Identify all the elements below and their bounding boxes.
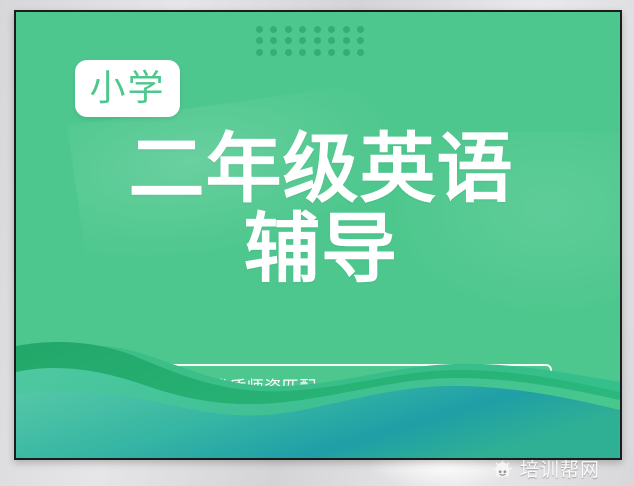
dot: [270, 37, 277, 44]
poster-title-line-2: 辅导: [16, 210, 620, 288]
dot: [343, 37, 350, 44]
feature-label: 教研专注中高考: [372, 380, 495, 397]
grade-level-badge: 小学: [75, 60, 180, 117]
features-bar: 本地优质师资匹配 教研专注中高考: [90, 364, 552, 412]
feature-item: 教研专注中高考: [343, 378, 495, 399]
dot: [314, 26, 321, 33]
dot: [270, 49, 277, 56]
feature-item: 本地优质师资匹配: [148, 378, 317, 399]
dot: [314, 37, 321, 44]
dot: [328, 26, 335, 33]
dot: [343, 49, 350, 56]
dot: [328, 37, 335, 44]
dot: [285, 49, 292, 56]
poster-title-line-1: 二年级英语: [16, 130, 620, 208]
dot: [270, 26, 277, 33]
dot: [357, 26, 364, 33]
poster-card: 小学 二年级英语 辅导 本地优质师资匹配 教研专注中高考: [14, 10, 622, 460]
dot: [299, 37, 306, 44]
watermark-label: 培训帮网: [520, 461, 600, 480]
dot: [357, 37, 364, 44]
dot-grid-ornament: [252, 24, 368, 58]
page-background: 小学 二年级英语 辅导 本地优质师资匹配 教研专注中高考: [0, 0, 634, 486]
dot: [328, 49, 335, 56]
dot: [285, 37, 292, 44]
dot: [256, 26, 263, 33]
check-circle-icon: [343, 378, 364, 399]
dot: [357, 49, 364, 56]
grade-level-badge-label: 小学: [89, 71, 165, 107]
dot: [256, 49, 263, 56]
dot: [256, 37, 263, 44]
dot: [343, 26, 350, 33]
feature-label: 本地优质师资匹配: [177, 380, 317, 397]
watermark: 培训帮网: [492, 456, 600, 484]
dot: [285, 26, 292, 33]
poster-title: 二年级英语 辅导: [16, 130, 620, 287]
dot: [314, 49, 321, 56]
sun-face-icon: [492, 460, 513, 481]
dot: [299, 26, 306, 33]
dot: [299, 49, 306, 56]
check-circle-icon: [148, 378, 169, 399]
